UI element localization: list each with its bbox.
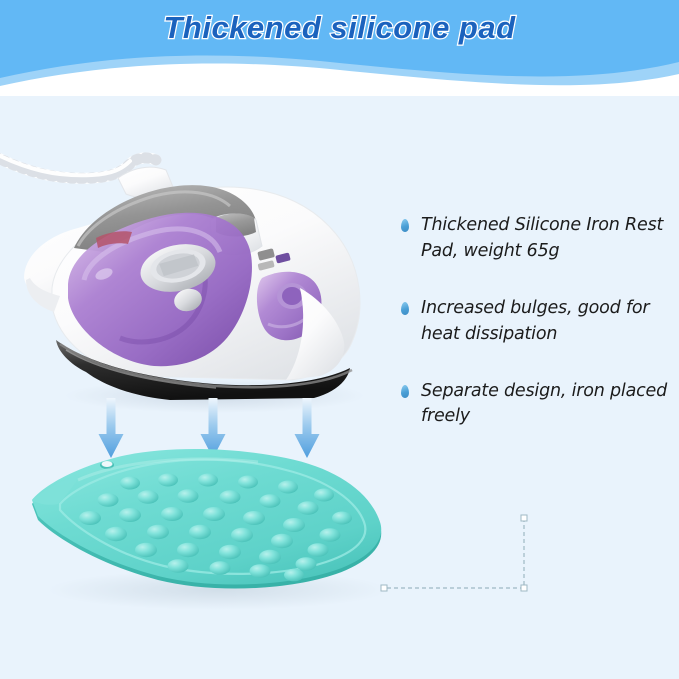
droplet-bullet-icon: [401, 385, 409, 398]
product-infographic: Thickened silicone pad: [0, 0, 679, 679]
silicone-pad-illustration: [18, 440, 418, 620]
feature-text: Increased bulges, good for heat dissipat…: [421, 296, 672, 348]
list-item: Thickened Silicone Iron Rest Pad, weight…: [400, 213, 672, 265]
page-title: Thickened silicone pad: [0, 10, 679, 46]
list-item: Separate design, iron placed freely: [400, 379, 672, 431]
droplet-bullet-icon: [401, 302, 409, 315]
list-item: Increased bulges, good for heat dissipat…: [400, 296, 672, 348]
feature-text: Separate design, iron placed freely: [421, 379, 672, 431]
feature-list: Thickened Silicone Iron Rest Pad, weight…: [400, 213, 672, 461]
silicone-pad-image: [18, 440, 418, 620]
steam-iron-image: [0, 128, 400, 428]
droplet-bullet-icon: [401, 219, 409, 232]
steam-iron-illustration: [0, 128, 400, 428]
header-banner: Thickened silicone pad: [0, 0, 679, 96]
dashed-measure-guide: [378, 512, 530, 594]
feature-text: Thickened Silicone Iron Rest Pad, weight…: [421, 213, 672, 265]
